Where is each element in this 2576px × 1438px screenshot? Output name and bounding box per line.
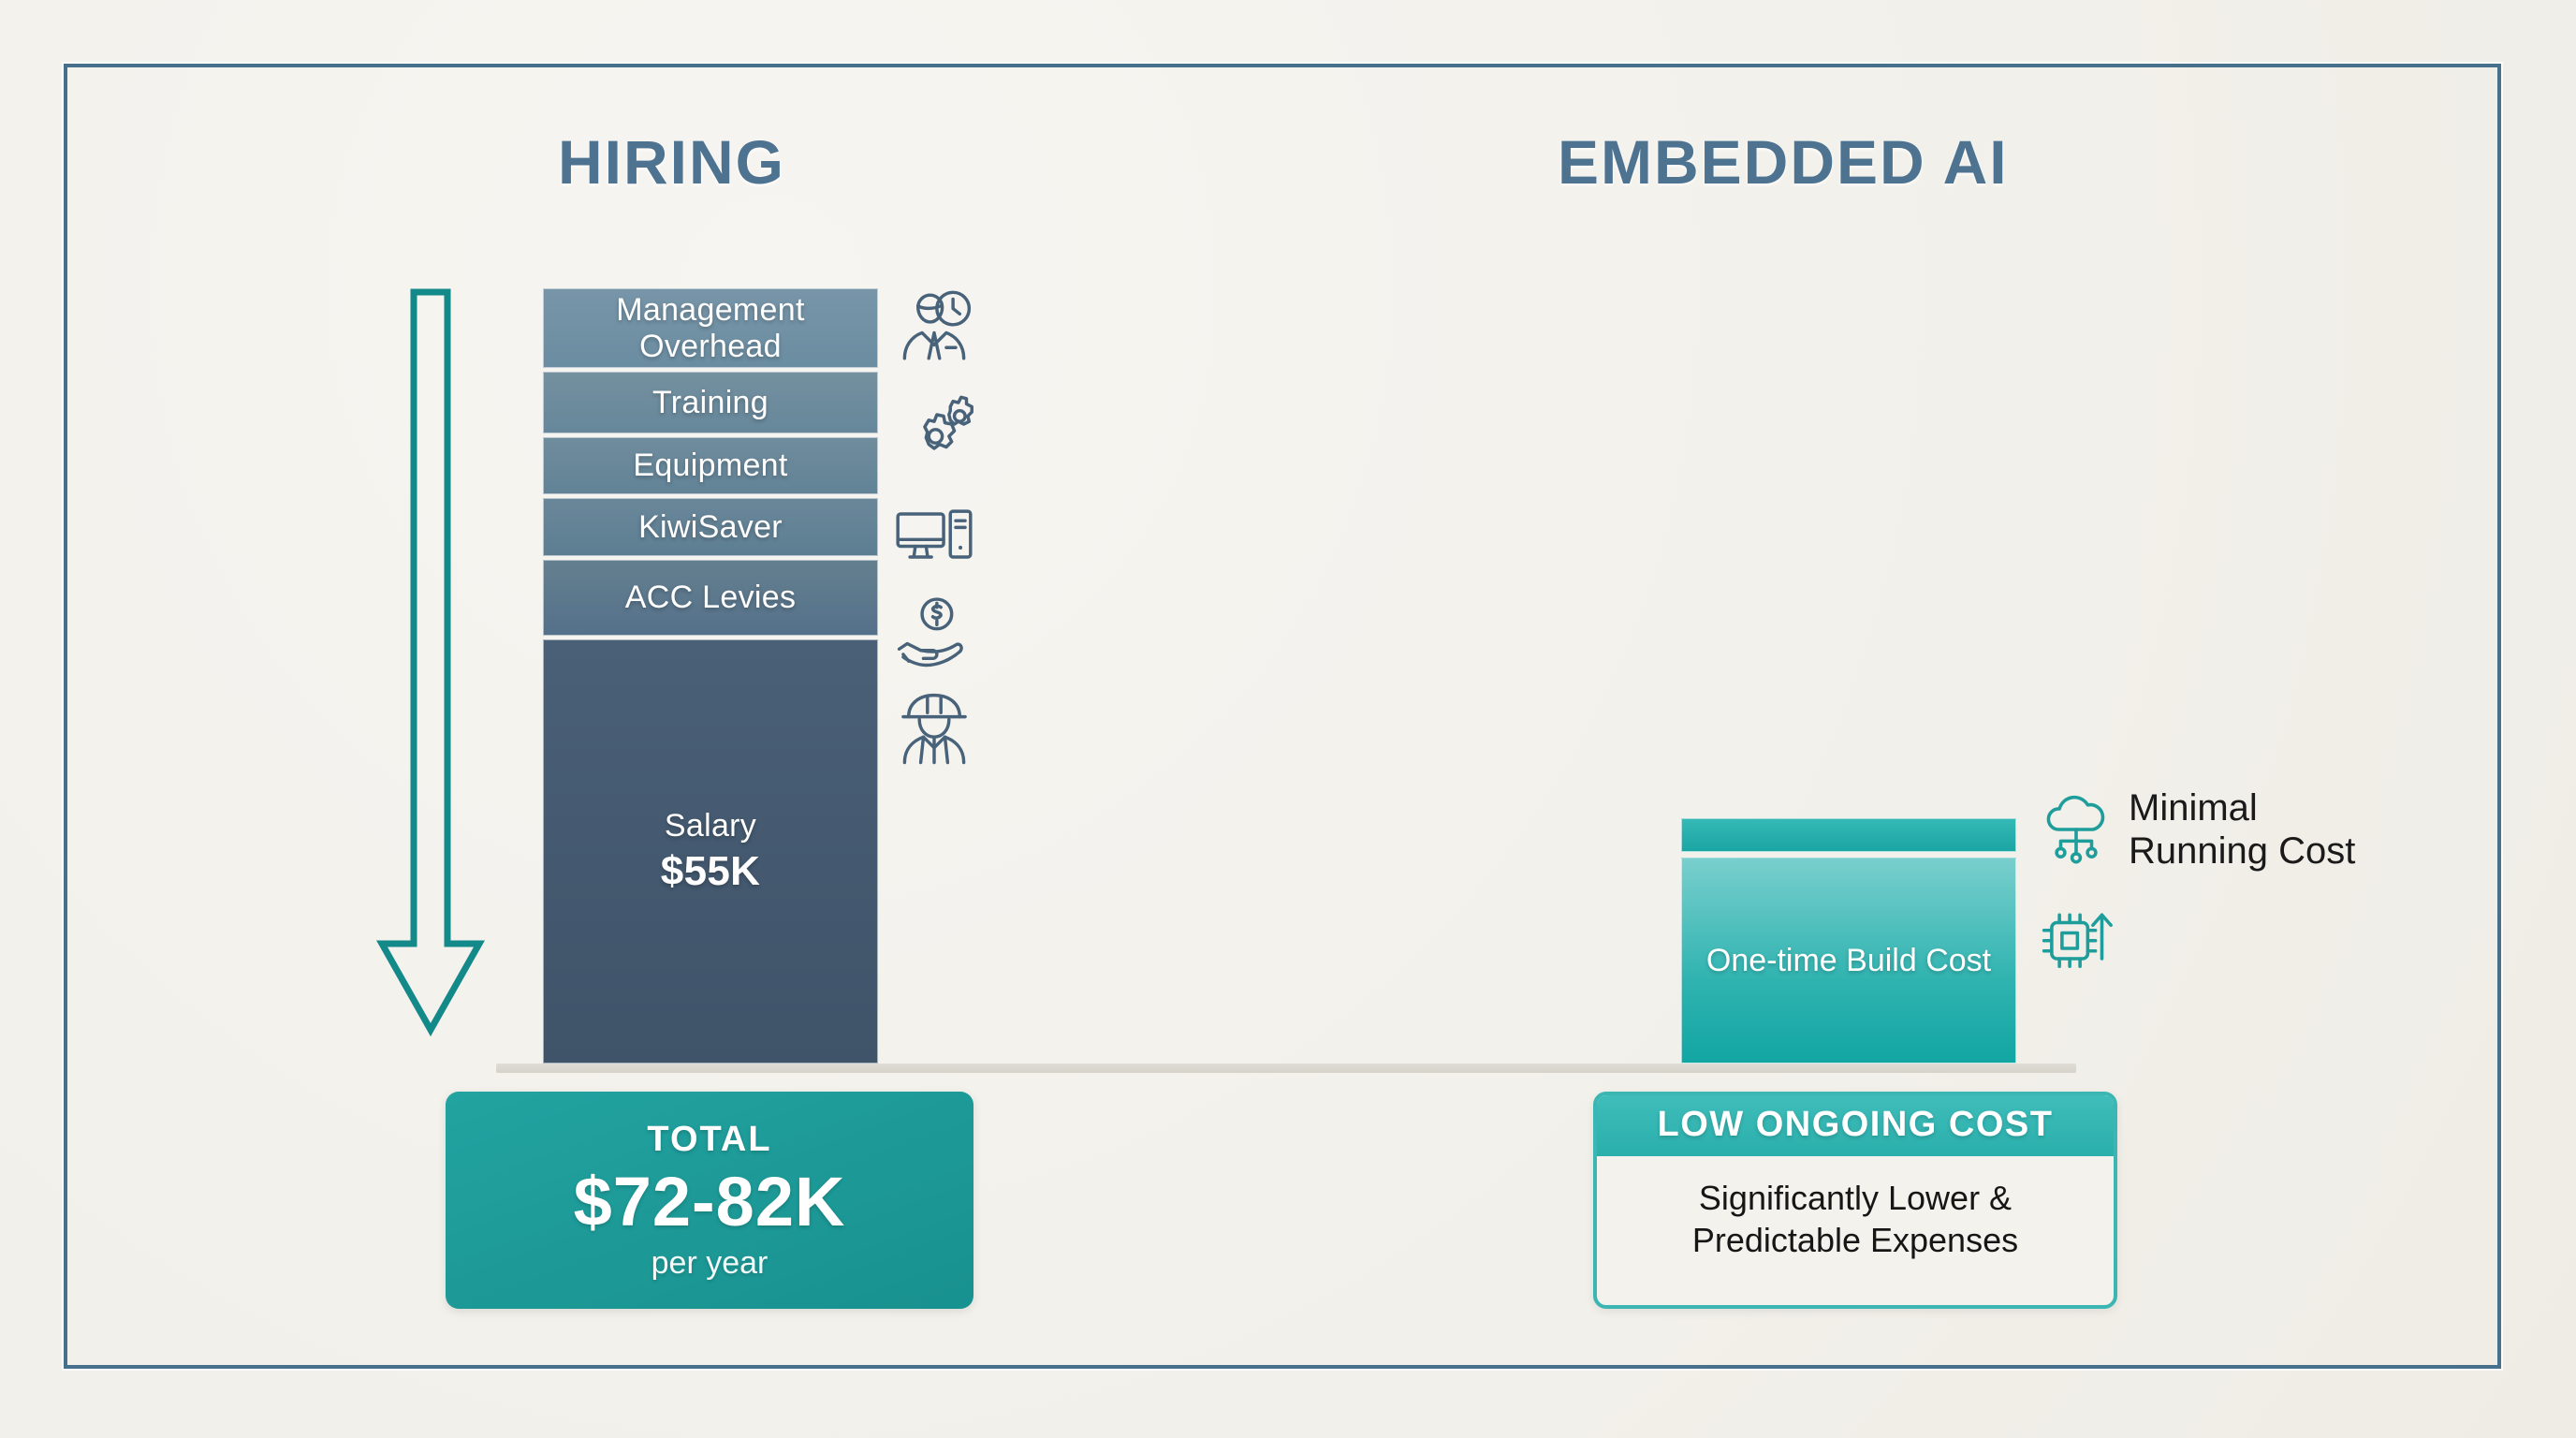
column-title-hiring: HIRING [558, 126, 785, 198]
hiring-total-card: TOTAL $72-82K per year [446, 1092, 973, 1309]
bar-segment-salary: Salary $55K [543, 639, 878, 1064]
computer-icon [891, 492, 977, 579]
ai-note-chip [2035, 897, 2129, 979]
bar-segment-training: Training [543, 372, 878, 433]
total-amount: $72-82K [574, 1162, 846, 1241]
manager-clock-icon [891, 288, 977, 374]
hiring-icon-column [891, 288, 981, 775]
bar-segment-label: Training [652, 385, 768, 421]
ai-summary-heading: LOW ONGOING COST [1597, 1095, 2114, 1156]
gears-icon [891, 393, 977, 479]
hand-money-icon [891, 590, 977, 676]
bar-segment-label: ACC Levies [625, 580, 797, 616]
chip-arrow-up-icon [2035, 897, 2117, 979]
bar-segment-equipment: Equipment [543, 437, 878, 495]
ai-bar-build-cost-segment: One-time Build Cost [1681, 858, 2016, 1064]
total-period: per year [651, 1245, 768, 1282]
bar-segment-kiwisaver: KiwiSaver [543, 498, 878, 556]
infographic-canvas: HIRING EMBEDDED AI Management Overhead T… [0, 0, 2576, 1438]
worker-hardhat-icon [891, 687, 977, 773]
ai-summary-body: Significantly Lower & Predictable Expens… [1597, 1156, 2114, 1261]
ai-note-text: Minimal Running Cost [2129, 786, 2355, 873]
ai-bar-label: One-time Build Cost [1706, 942, 1991, 980]
bar-segment-management-overhead: Management Overhead [543, 288, 878, 368]
bar-segment-amount: $55K [661, 848, 760, 896]
bar-segment-label: Equipment [633, 448, 787, 484]
column-title-embedded-ai: EMBEDDED AI [1558, 126, 2009, 198]
ai-cost-bar: One-time Build Cost [1681, 818, 2016, 1064]
total-label: TOTAL [647, 1120, 771, 1160]
hiring-cost-stacked-bar: Management Overhead Training Equipment K… [543, 288, 878, 1064]
down-arrow-icon [374, 288, 487, 1047]
cloud-network-icon [2035, 788, 2117, 871]
ai-bar-top-segment [1681, 818, 2016, 852]
bar-segment-acc-levies: ACC Levies [543, 560, 878, 636]
bar-segment-label: Salary [665, 808, 756, 844]
ai-summary-card: LOW ONGOING COST Significantly Lower & P… [1593, 1092, 2117, 1309]
chart-baseline [496, 1064, 2076, 1073]
ai-note-minimal-running-cost: Minimal Running Cost [2035, 786, 2355, 873]
bar-segment-label: KiwiSaver [638, 509, 783, 546]
bar-segment-label: Management Overhead [544, 292, 877, 365]
